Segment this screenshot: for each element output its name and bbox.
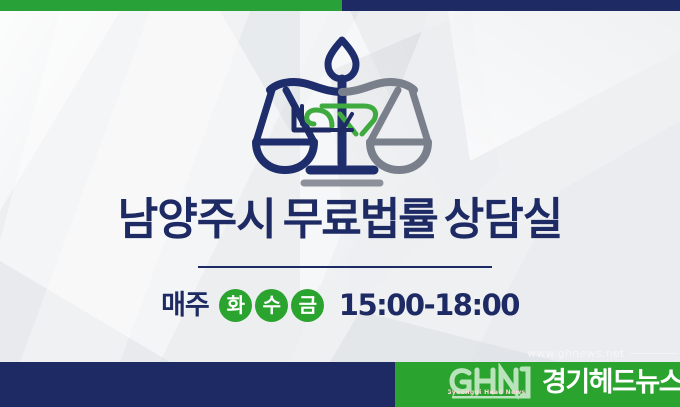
headline-divider	[198, 266, 492, 268]
schedule-day-chips: 화 수 금	[219, 289, 324, 322]
schedule-frequency-label: 매주	[161, 292, 209, 319]
schedule-row: 매주 화 수 금 15:00-18:00	[0, 286, 680, 324]
ghn-tagline: Gyeonggi Head News	[448, 389, 526, 396]
site-watermark: www.ghnews.net	[527, 345, 677, 361]
headline-suffix: 상담실	[444, 194, 562, 245]
day-chip-wed: 수	[255, 289, 288, 322]
publisher-name-korean: 경기헤드뉴스	[542, 369, 680, 396]
site-watermark-url: www.ghnews.net	[527, 348, 625, 359]
day-chip-fri: 금	[291, 289, 324, 322]
top-accent-bar-navy	[342, 0, 680, 11]
headline-prefix: 남양주시	[118, 194, 276, 245]
schedule-time-range: 15:00-18:00	[339, 291, 519, 320]
publisher-brand-lockup: Gyeonggi Head News 경기헤드뉴스	[448, 360, 680, 405]
site-watermark-rule	[630, 353, 677, 354]
poster-headline: 남양주시 무료법률 상담실	[0, 198, 680, 242]
ghn-logo-icon: Gyeonggi Head News	[448, 363, 536, 403]
top-accent-bar	[0, 0, 680, 11]
headline-emphasis: 무료법률	[281, 194, 439, 245]
scales-of-justice-icon	[252, 34, 432, 192]
top-accent-bar-green	[0, 0, 342, 11]
day-chip-tue: 화	[219, 289, 252, 322]
legal-counseling-poster: 남양주시 무료법률 상담실 매주 화 수 금 15:00-18:00 www.g…	[0, 0, 680, 407]
